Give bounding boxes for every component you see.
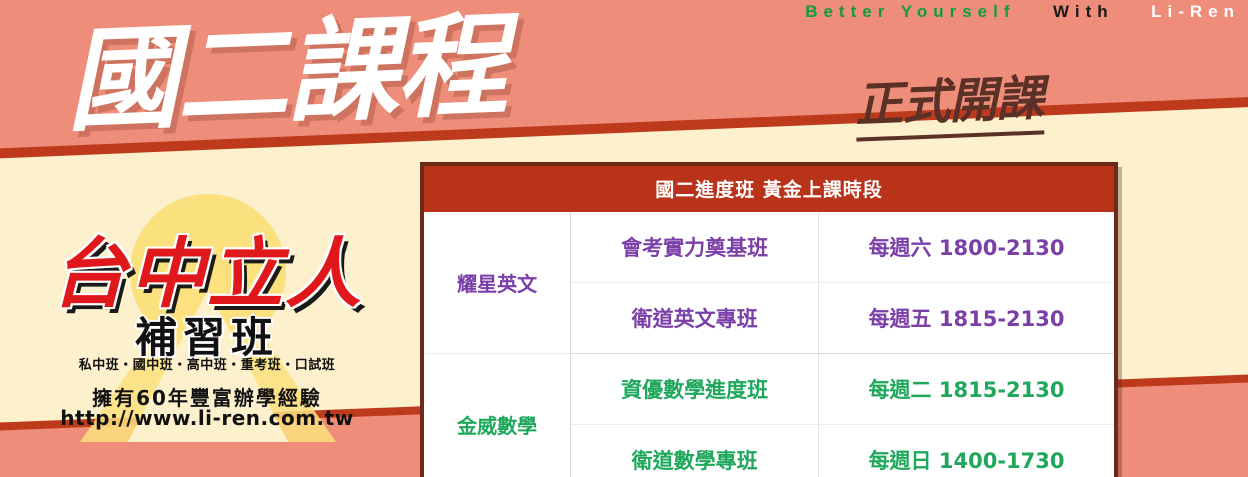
logo-website-url: http://www.li-ren.com.tw [18, 406, 396, 430]
table-header-row: 國二進度班 黃金上課時段 [424, 166, 1114, 212]
tagline-part-white: Li-Ren [1151, 2, 1240, 21]
tagline-part-green: Better Yourself [805, 2, 1015, 21]
class-time-cell: 每週六 1800-2130 [819, 212, 1114, 283]
promo-banner: Better Yourself With Li-Ren 國二課程 正式開課 台中… [0, 0, 1248, 477]
table-row: 金威數學 資優數學進度班 每週二 1815-2130 [424, 354, 1114, 425]
class-time-cell: 每週日 1400-1730 [819, 425, 1114, 477]
schedule-header: 國二進度班 黃金上課時段 [424, 166, 1114, 212]
subject-cell: 耀星英文 [424, 212, 571, 354]
class-time-cell: 每週五 1815-2130 [819, 283, 1114, 354]
class-name-cell: 衛道數學專班 [571, 425, 819, 477]
schedule-table: 國二進度班 黃金上課時段 耀星英文 會考實力奠基班 每週六 1800-2130 … [424, 166, 1114, 477]
page-title: 國二課程 [64, 2, 509, 148]
schedule-table-container: 國二進度班 黃金上課時段 耀星英文 會考實力奠基班 每週六 1800-2130 … [420, 162, 1118, 477]
logo-class-types: 私中班・國中班・高中班・重考班・口試班 [18, 354, 396, 373]
tagline: Better Yourself With Li-Ren [0, 2, 1240, 22]
tagline-part-black: With [1053, 2, 1114, 21]
class-time-cell: 每週二 1815-2130 [819, 354, 1114, 425]
class-name-cell: 資優數學進度班 [571, 354, 819, 425]
page-subtitle: 正式開課 [854, 58, 1045, 141]
subject-cell: 金威數學 [424, 354, 571, 477]
table-row: 耀星英文 會考實力奠基班 每週六 1800-2130 [424, 212, 1114, 283]
schedule-table-body: 耀星英文 會考實力奠基班 每週六 1800-2130 衛道英文專班 每週五 18… [424, 212, 1114, 477]
logo: 台中立人 補習班 私中班・國中班・高中班・重考班・口試班 擁有60年豐富辦學經驗… [18, 186, 396, 426]
class-name-cell: 衛道英文專班 [571, 283, 819, 354]
class-name-cell: 會考實力奠基班 [571, 212, 819, 283]
